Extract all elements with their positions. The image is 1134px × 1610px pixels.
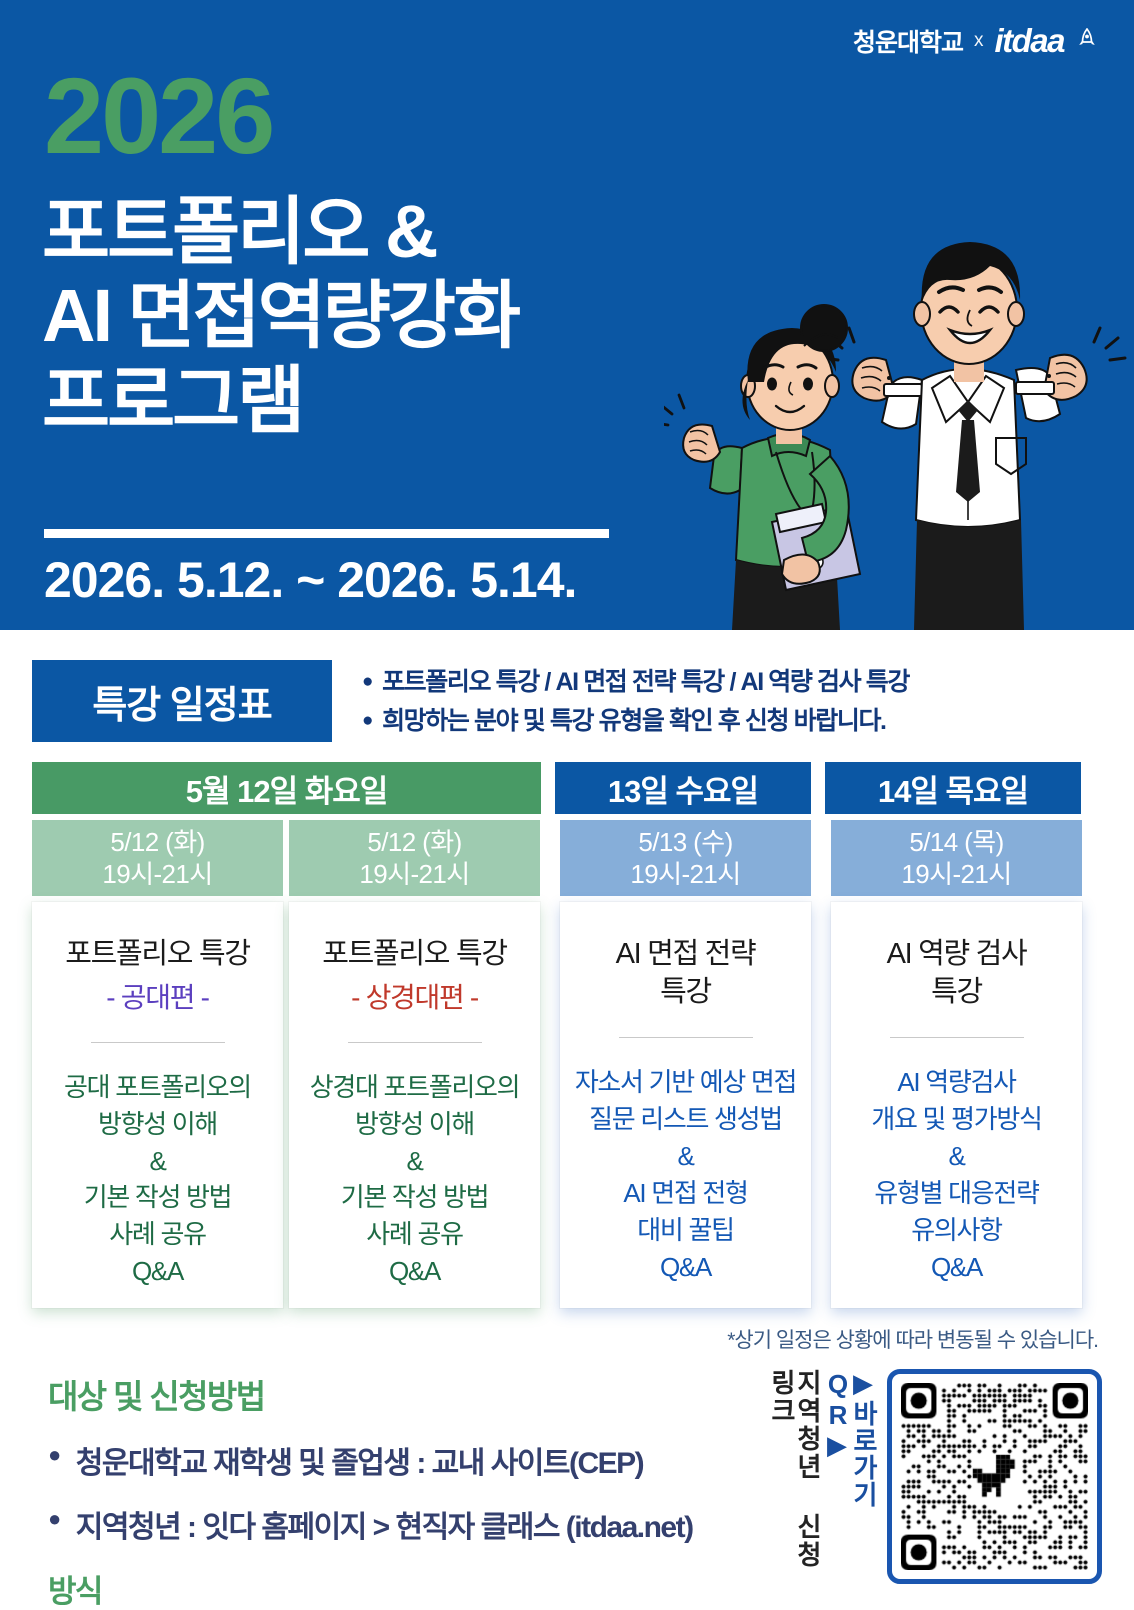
card-body: 공대 포트폴리오의 방향성 이해 & 기본 작성 방법 사례 공유 Q&A <box>46 1069 269 1290</box>
day-header-wednesday: 13일 수요일 <box>555 762 811 814</box>
cheering-students-illustration <box>664 230 1134 630</box>
time-cell-1: 5/12 (화) 19시-21시 <box>32 820 283 896</box>
program-date-range: 2026. 5.12. ~ 2026. 5.14. <box>44 551 576 609</box>
session-card-ai-interview: AI 면접 전략 특강 자소서 기반 예상 면접 질문 리스트 생성법 & AI… <box>560 902 811 1308</box>
title-line-1: 포트폴리오 & <box>42 190 518 274</box>
brand-university-name: 청운대학교 <box>853 23 963 59</box>
card-subtitle: - 공대편 - <box>46 976 269 1016</box>
card-divider <box>890 1037 1024 1038</box>
hero-year: 2026 <box>44 62 272 170</box>
schedule-note-2-text: 희망하는 분야 및 특강 유형을 확인 후 신청 바랍니다. <box>382 702 886 741</box>
bullet-icon: ● <box>48 1438 60 1471</box>
title-line-2: AI 면접역량강화 <box>42 274 518 358</box>
schedule-notes: ● 포트폴리오 특강 / AI 면접 전략 특강 / AI 역량 검사 특강 ●… <box>362 660 909 741</box>
session-card-portfolio-business: 포트폴리오 특강 - 상경대편 - 상경대 포트폴리오의 방향성 이해 & 기본… <box>289 902 540 1308</box>
schedule-note-2: ● 희망하는 분야 및 특강 유형을 확인 후 신청 바랍니다. <box>362 702 909 741</box>
time-cell-4-time: 19시-21시 <box>901 858 1011 891</box>
brand-partner-name: itdaa <box>994 22 1064 60</box>
day-header-thursday: 14일 목요일 <box>825 762 1081 814</box>
card-divider <box>348 1042 482 1043</box>
qr-code[interactable] <box>887 1369 1102 1584</box>
card-title: 포트폴리오 특강 <box>303 936 526 974</box>
column-gap <box>817 902 825 1308</box>
bullet-icon: ● <box>362 702 372 739</box>
card-divider <box>91 1042 225 1043</box>
schedule-note-1: ● 포트폴리오 특강 / AI 면접 전략 특강 / AI 역량 검사 특강 <box>362 663 909 702</box>
schedule-footnote: *상기 일정은 상황에 따라 변동될 수 있습니다. <box>32 1324 1102 1354</box>
schedule-badge: 특강 일정표 <box>32 660 332 742</box>
time-cell-1-time: 19시-21시 <box>102 858 212 891</box>
brand-separator: x <box>974 30 984 52</box>
session-card-ai-assessment: AI 역량 검사 특강 AI 역량검사 개요 및 평가방식 & 유형별 대응전략… <box>831 902 1082 1308</box>
qr-label-right: ▶바로가기QR▶ <box>825 1369 877 1584</box>
card-body: 상경대 포트폴리오의 방향성 이해 & 기본 작성 방법 사례 공유 Q&A <box>303 1069 526 1290</box>
column-gap <box>546 820 554 896</box>
card-title: AI 역량 검사 특강 <box>845 936 1068 1011</box>
card-divider <box>619 1037 753 1038</box>
page-title: 포트폴리오 & AI 면접역량강화 프로그램 <box>42 190 518 443</box>
card-body: 자소서 기반 예상 면접 질문 리스트 생성법 & AI 면접 전형 대비 꿀팁… <box>574 1064 797 1285</box>
schedule-header: 특강 일정표 ● 포트폴리오 특강 / AI 면접 전략 특강 / AI 역량 … <box>32 630 1102 742</box>
content-section: 특강 일정표 ● 포트폴리오 특강 / AI 면접 전략 특강 / AI 역량 … <box>0 630 1134 1610</box>
brand-lockup: 청운대학교 x itdaa <box>853 22 1098 60</box>
application-item-youth-text: 지역청년 : 잇다 홈페이지 > 현직자 클래스 (itdaa.net) <box>76 1502 693 1546</box>
bullet-icon: ● <box>362 663 372 700</box>
card-title: 포트폴리오 특강 <box>46 936 269 974</box>
time-row: 5/12 (화) 19시-21시 5/12 (화) 19시-21시 5/13 (… <box>32 820 1102 896</box>
application-item-students-text: 청운대학교 재학생 및 졸업생 : 교내 사이트(CEP) <box>76 1438 643 1482</box>
poster-root: 청운대학교 x itdaa 2026 포트폴리오 & AI 면접역량강화 프로그… <box>0 0 1134 1610</box>
time-cell-1-date: 5/12 (화) <box>110 826 204 859</box>
card-body: AI 역량검사 개요 및 평가방식 & 유형별 대응전략 유의사항 Q&A <box>845 1064 1068 1285</box>
schedule-note-1-text: 포트폴리오 특강 / AI 면접 전략 특강 / AI 역량 검사 특강 <box>382 663 909 702</box>
column-gap <box>546 902 554 1308</box>
title-divider <box>44 529 609 538</box>
time-cell-2-time: 19시-21시 <box>359 858 469 891</box>
hero-section: 청운대학교 x itdaa 2026 포트폴리오 & AI 면접역량강화 프로그… <box>0 0 1134 630</box>
day-header-row: 5월 12일 화요일 13일 수요일 14일 목요일 <box>32 762 1102 814</box>
qr-label-left: 지역청년 신청링크 <box>769 1369 821 1584</box>
qr-canvas[interactable] <box>901 1383 1088 1570</box>
bullet-icon: ● <box>48 1502 60 1535</box>
time-cell-3: 5/13 (수) 19시-21시 <box>560 820 811 896</box>
column-gap <box>817 820 825 896</box>
time-cell-4: 5/14 (목) 19시-21시 <box>831 820 1082 896</box>
session-card-row: 포트폴리오 특강 - 공대편 - 공대 포트폴리오의 방향성 이해 & 기본 작… <box>32 902 1102 1308</box>
card-subtitle: - 상경대편 - <box>303 976 526 1016</box>
qr-section[interactable]: 지역청년 신청링크 ▶바로가기QR▶ <box>769 1369 1102 1584</box>
title-line-3: 프로그램 <box>42 359 518 443</box>
time-cell-3-date: 5/13 (수) <box>638 826 732 859</box>
card-title: AI 면접 전략 특강 <box>574 936 797 1011</box>
day-header-tuesday: 5월 12일 화요일 <box>32 762 541 814</box>
time-cell-2: 5/12 (화) 19시-21시 <box>289 820 540 896</box>
time-cell-4-date: 5/14 (목) <box>909 826 1003 859</box>
session-card-portfolio-engineering: 포트폴리오 특강 - 공대편 - 공대 포트폴리오의 방향성 이해 & 기본 작… <box>32 902 283 1308</box>
time-cell-2-date: 5/12 (화) <box>367 826 461 859</box>
time-cell-3-time: 19시-21시 <box>630 858 740 891</box>
rocket-icon <box>1076 28 1098 54</box>
